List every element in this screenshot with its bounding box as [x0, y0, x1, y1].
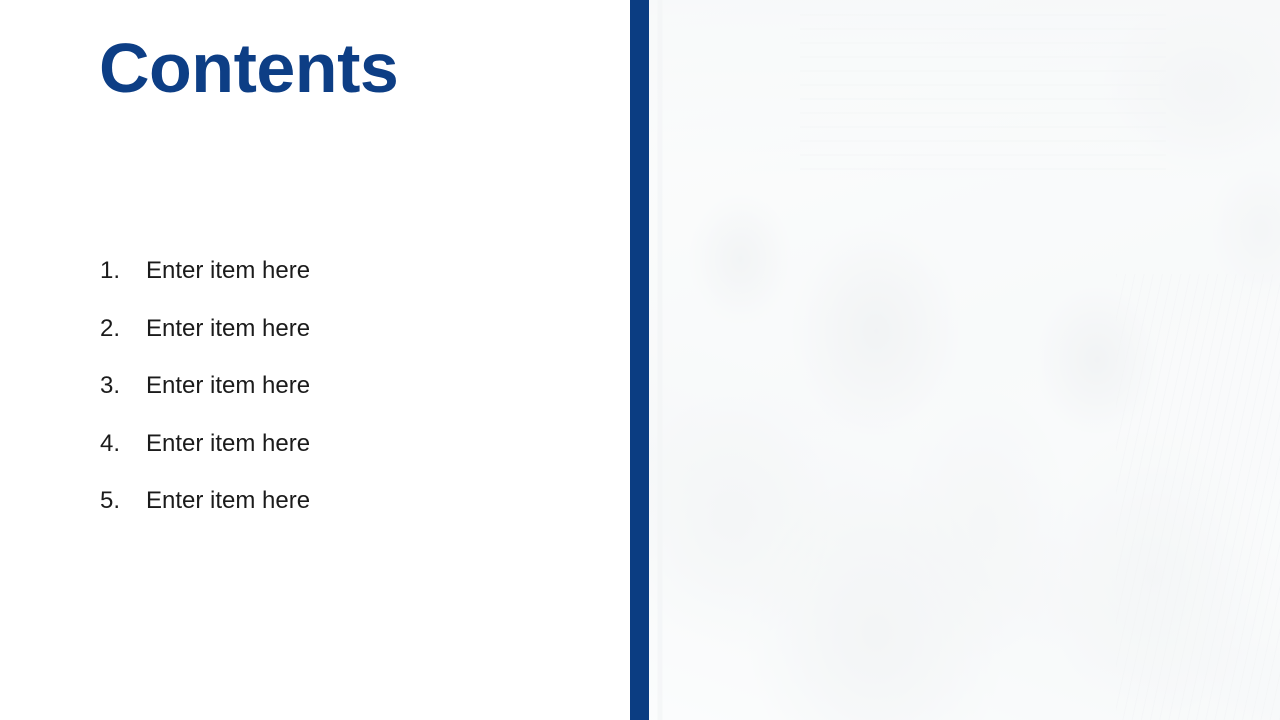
list-item-label: Enter item here	[146, 256, 310, 286]
list-item-number: 2.	[100, 314, 146, 344]
photo-panel	[649, 0, 1280, 720]
list-item-number: 4.	[100, 429, 146, 459]
list-item-number: 5.	[100, 486, 146, 516]
list-item-label: Enter item here	[146, 429, 310, 459]
photo-fade-overlay	[649, 0, 1280, 720]
accent-bar	[630, 0, 649, 720]
list-item-number: 3.	[100, 371, 146, 401]
list-item-label: Enter item here	[146, 486, 310, 516]
list-item[interactable]: 3. Enter item here	[100, 371, 580, 429]
page-title: Contents	[99, 33, 398, 103]
left-content-panel: Contents 1. Enter item here 2. Enter ite…	[0, 0, 630, 720]
contents-list: 1. Enter item here 2. Enter item here 3.…	[100, 256, 580, 544]
list-item-number: 1.	[100, 256, 146, 286]
list-item-label: Enter item here	[146, 371, 310, 401]
slide-canvas: Contents 1. Enter item here 2. Enter ite…	[0, 0, 1280, 720]
list-item[interactable]: 4. Enter item here	[100, 429, 580, 487]
list-item-label: Enter item here	[146, 314, 310, 344]
list-item[interactable]: 5. Enter item here	[100, 486, 580, 544]
list-item[interactable]: 2. Enter item here	[100, 314, 580, 372]
list-item[interactable]: 1. Enter item here	[100, 256, 580, 314]
